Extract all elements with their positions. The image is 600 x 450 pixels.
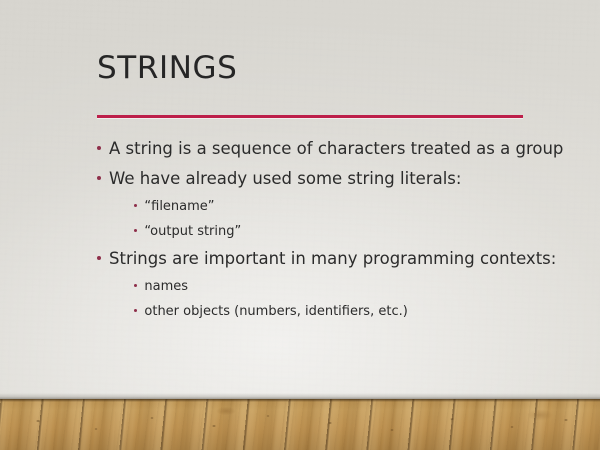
- sub-bullet-text: names: [144, 274, 188, 299]
- bullet-text: A string is a sequence of characters tre…: [109, 134, 563, 164]
- bullet-dot-icon: [134, 229, 137, 232]
- sub-bullet-item: “filename”: [97, 194, 567, 219]
- presentation-slide: STRINGS A string is a sequence of charac…: [0, 0, 600, 450]
- bullet-text: Strings are important in many programmin…: [109, 244, 556, 274]
- sub-bullet-item: names: [97, 274, 567, 299]
- sub-bullet-item: “output string”: [97, 219, 567, 244]
- sub-bullet-text: “filename”: [144, 194, 214, 219]
- wooden-floor: [0, 399, 600, 450]
- floor-top-edge: [0, 399, 600, 402]
- bullet-text: We have already used some string literal…: [109, 164, 461, 194]
- bullet-dot-icon: [134, 204, 137, 207]
- sub-bullet-item: other objects (numbers, identifiers, etc…: [97, 299, 567, 324]
- bullet-dot-icon: [97, 146, 101, 150]
- slide-title: STRINGS: [97, 50, 237, 86]
- bullet-dot-icon: [134, 309, 137, 312]
- bullet-dot-icon: [134, 284, 137, 287]
- bullet-item: A string is a sequence of characters tre…: [97, 134, 567, 164]
- bullet-dot-icon: [97, 176, 101, 180]
- title-divider-rule: [97, 115, 523, 118]
- bullet-item: Strings are important in many programmin…: [97, 244, 567, 274]
- floor-wood-knots: [0, 399, 600, 450]
- sub-bullet-text: other objects (numbers, identifiers, etc…: [144, 299, 407, 324]
- bullet-item: We have already used some string literal…: [97, 164, 567, 194]
- bullet-dot-icon: [97, 256, 101, 260]
- slide-body-list: A string is a sequence of characters tre…: [97, 134, 567, 324]
- sub-bullet-text: “output string”: [144, 219, 241, 244]
